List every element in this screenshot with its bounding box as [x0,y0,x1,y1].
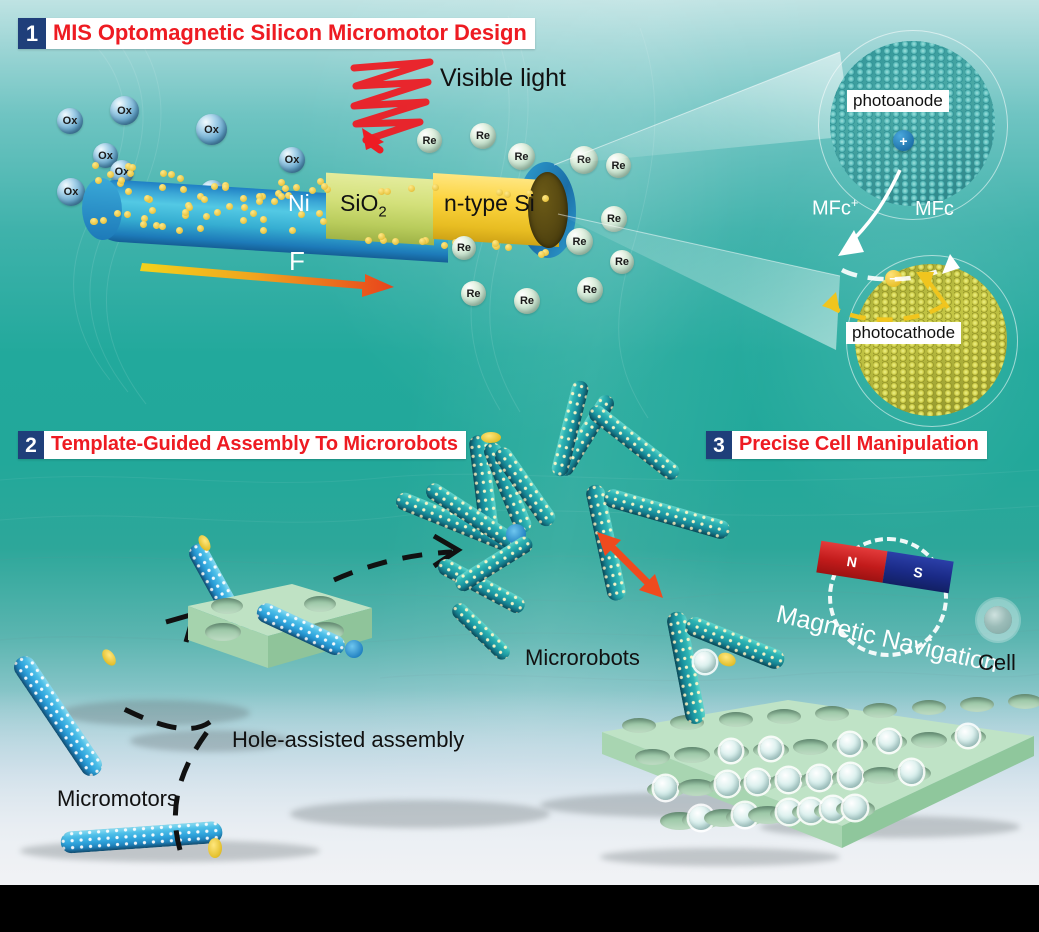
gold-nanoparticle [392,238,399,245]
section-title: Template-Guided Assembly To Microrobots [44,431,466,459]
gold-nanoparticle [240,217,247,224]
gold-nanoparticle [250,210,257,217]
section-title: Precise Cell Manipulation [732,431,987,459]
gold-nanoparticle [408,185,415,192]
gold-nanoparticle [241,204,248,211]
plate-well [815,706,849,721]
gold-nanoparticle [278,193,285,200]
gold-nanoparticle [100,217,107,224]
assembly-hole [205,623,241,641]
re-species-sphere: Re [452,236,476,260]
plate-well [1008,694,1039,709]
re-species-sphere: Re [470,123,496,149]
cell-in-well [839,733,861,755]
cell-in-well [654,776,677,799]
gold-nanoparticle [127,170,134,177]
sio2-text: SiO [340,190,378,216]
gold-nanoparticle [309,187,316,194]
hole-assisted-assembly-label: Hole-assisted assembly [232,727,464,753]
force-arrow-icon [140,255,400,295]
ox-label: Ox [63,115,78,127]
re-species-sphere: Re [514,288,540,314]
gold-nanoparticle [107,171,114,178]
gold-nanoparticle [197,225,204,232]
section-title: MIS Optomagnetic Silicon Micromotor Desi… [46,18,535,49]
gold-nanoparticle [256,198,263,205]
rod-blue-tip [345,640,363,658]
cell-culture-plate [572,676,1039,871]
gold-nanoparticle [211,183,218,190]
re-species-sphere: Re [508,143,535,170]
mfc-ox-text: MFc [812,198,851,220]
section-header-2: 2 Template-Guided Assembly To Microrobot… [18,431,466,459]
sio2-subscript: 2 [378,204,386,221]
section-header-1: 1 MIS Optomagnetic Silicon Micromotor De… [18,18,535,49]
ox-label: Ox [64,186,79,198]
plate-well [719,712,753,727]
re-label: Re [466,288,480,300]
sio2-label: SiO2 [340,190,387,221]
gold-nanoparticle [118,177,125,184]
gold-nanoparticle [129,164,136,171]
cell-in-well [808,766,831,789]
nickel-label: Ni [288,190,310,217]
plate-well [960,697,994,712]
captured-cell-bead [694,651,716,673]
photocathode-label: photocathode [846,322,961,344]
section-number-badge: 2 [18,431,44,459]
redox-cycle-arrows [780,170,1030,310]
gold-nanoparticle [271,198,278,205]
gold-nanoparticle [168,171,175,178]
bottom-black-bar [0,885,1039,932]
re-species-sphere: Re [461,281,486,306]
section-header-3: 3 Precise Cell Manipulation [706,431,987,459]
cell-in-well [716,772,739,795]
force-label: F [289,246,305,277]
gold-nanoparticle [260,216,267,223]
assembly-hole [211,598,243,614]
mfc-oxidized-label: MFc+ [812,195,858,221]
figure-canvas: 1 MIS Optomagnetic Silicon Micromotor De… [0,0,1039,932]
gold-nanoparticle [492,240,499,247]
micromotor-schematic: Ni SiO2 n-type Si [88,150,558,270]
ox-species-sphere: Ox [196,114,227,145]
assembly-hole [304,596,336,612]
microrobots-label: Microrobots [525,645,640,671]
gold-nanoparticle [92,162,99,169]
cell-in-well [746,770,769,793]
re-label: Re [422,135,436,147]
plate-well [911,732,947,748]
positive-charge-badge: + [893,130,914,151]
n-type-si-label: n-type Si [444,190,535,217]
plate-well [912,700,946,715]
cell-in-well [760,738,782,760]
oscillation-double-arrow-icon [595,530,665,600]
ox-species-sphere: Ox [57,108,83,134]
plate-well [767,709,801,724]
gold-nanoparticle [176,227,183,234]
ox-species-sphere: Ox [57,178,85,206]
section-number-badge: 1 [18,18,46,49]
re-label: Re [457,242,471,254]
section-number-badge: 3 [706,431,732,459]
gold-nanoparticle [505,244,512,251]
gold-nanoparticle [278,179,285,186]
plate-well [622,718,656,733]
ox-species-sphere: Ox [110,96,139,125]
re-label: Re [520,295,534,307]
photoanode-label: photoanode [847,90,949,112]
free-cell [984,606,1012,634]
gold-nanoparticle [289,227,296,234]
cell-in-well [900,760,923,783]
re-label: Re [514,151,528,163]
mfc-reduced-label: MFc [915,198,954,221]
cell-label: Cell [978,650,1016,676]
ox-label: Ox [204,124,219,136]
gold-nanoparticle [144,195,151,202]
re-label: Re [476,130,490,142]
assembly-template-plate [180,570,380,705]
plate-well [674,747,710,763]
gold-nanoparticle [95,177,102,184]
microrobot-gold-tip [481,432,501,443]
cell-in-well [777,768,800,791]
gold-nanoparticle [114,210,121,217]
ox-label: Ox [117,105,132,117]
cell-in-well [843,796,867,820]
re-species-sphere: Re [417,128,442,153]
cell-in-well [839,764,862,787]
mfc-ox-superscript: + [851,195,859,210]
